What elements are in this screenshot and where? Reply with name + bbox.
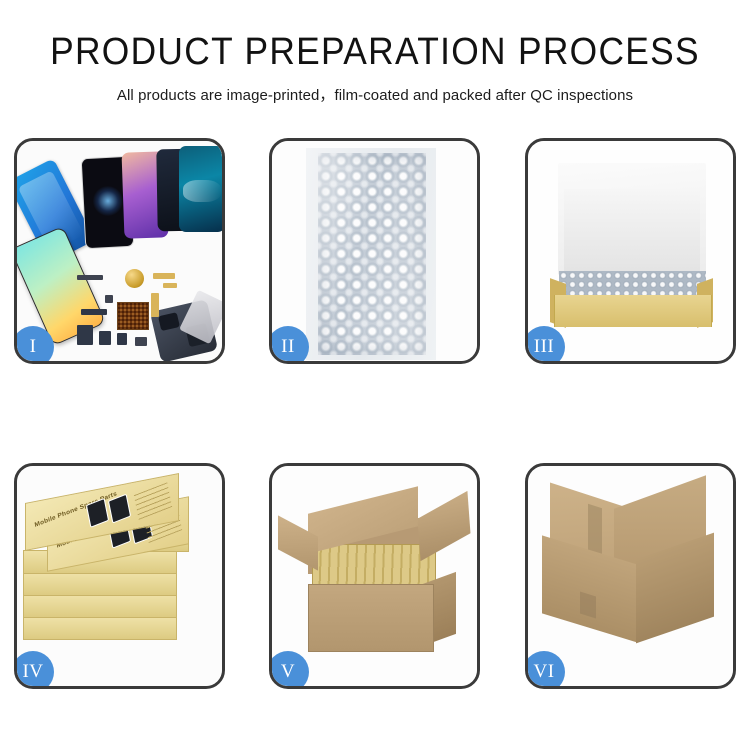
step-panel-2: II bbox=[269, 138, 480, 364]
teal-phone-screen bbox=[179, 146, 222, 232]
step-panel-5: V bbox=[269, 463, 480, 689]
page-title: PRODUCT PREPARATION PROCESS bbox=[26, 0, 724, 72]
step-4-image: Mobile Phone Spare Parts Mobile Phone Sp… bbox=[17, 466, 222, 686]
step-panel-3: III bbox=[525, 138, 736, 364]
step-2-image bbox=[272, 141, 477, 361]
step-panel-1: I bbox=[14, 138, 225, 364]
connector-grid-part bbox=[117, 302, 149, 330]
packed-yellow-boxes bbox=[312, 544, 436, 588]
step-badge-2: II bbox=[269, 326, 309, 364]
steps-grid: I II III bbox=[14, 138, 736, 692]
mailer-front-panel bbox=[554, 295, 712, 327]
product-preparation-infographic: PRODUCT PREPARATION PROCESS All products… bbox=[0, 0, 750, 750]
header: PRODUCT PREPARATION PROCESS All products… bbox=[0, 0, 750, 105]
step-badge-5: V bbox=[269, 651, 309, 689]
carton-tape-patch bbox=[580, 592, 596, 619]
bubble-wrap-gloss bbox=[318, 153, 426, 355]
page-subtitle: All products are image-printed，film-coat… bbox=[6, 72, 745, 105]
step-badge-6: VI bbox=[525, 651, 565, 689]
step-5-image bbox=[272, 466, 477, 686]
gold-coil-part bbox=[125, 269, 144, 288]
step-3-image bbox=[528, 141, 733, 361]
mailer-lid-inner bbox=[564, 189, 700, 275]
step-badge-1: I bbox=[14, 326, 54, 364]
step-1-image bbox=[17, 141, 222, 361]
step-panel-4: Mobile Phone Spare Parts Mobile Phone Sp… bbox=[14, 463, 225, 689]
step-badge-4: IV bbox=[14, 651, 54, 689]
carton-front-panel bbox=[308, 584, 434, 652]
step-6-image bbox=[528, 466, 733, 686]
spare-parts-cluster bbox=[77, 269, 222, 361]
step-badge-3: III bbox=[525, 326, 565, 364]
step-panel-6: VI bbox=[525, 463, 736, 689]
mailer-bubble-fill bbox=[559, 271, 706, 297]
